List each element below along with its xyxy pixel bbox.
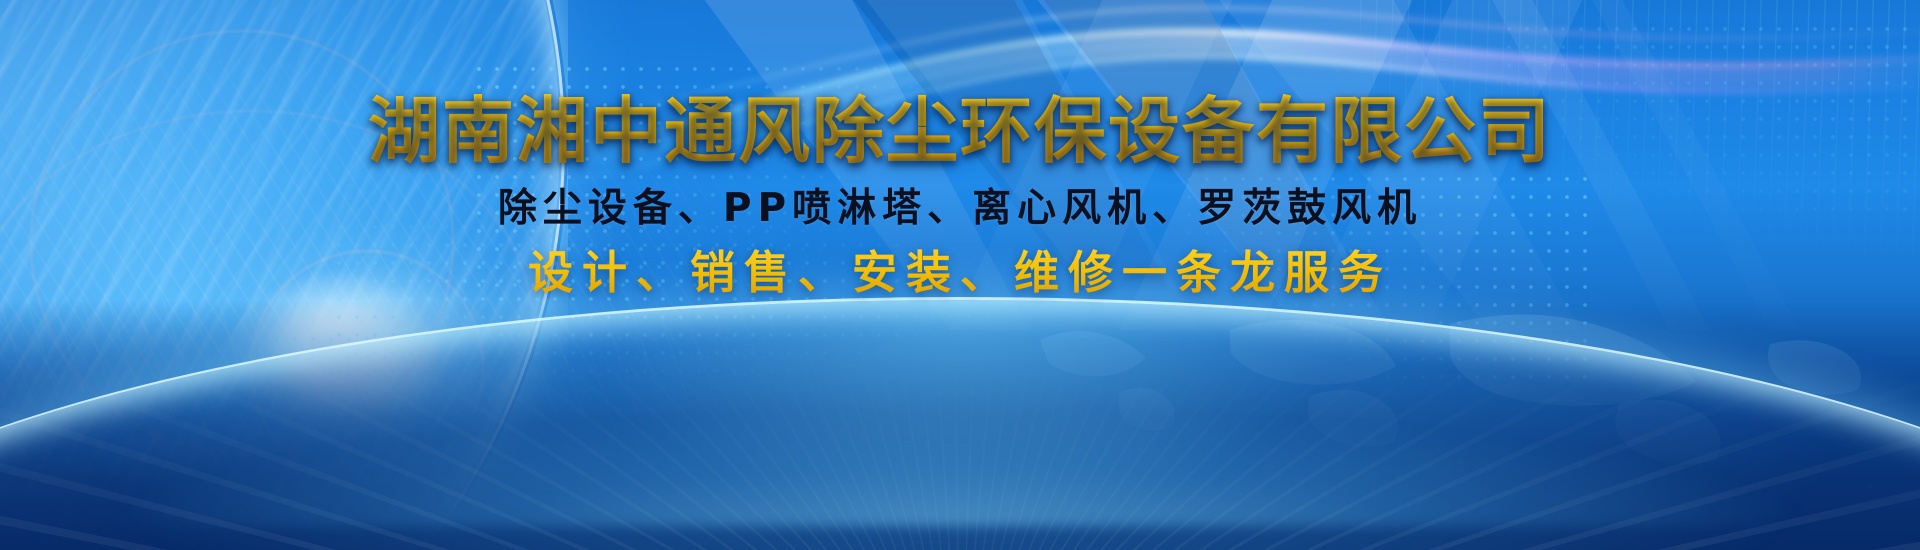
- company-promotional-banner: 湖南湘中通风除尘环保设备有限公司 除尘设备、PP喷淋塔、离心风机、罗茨鼓风机 设…: [0, 0, 1920, 550]
- banner-text-block: 湖南湘中通风除尘环保设备有限公司 除尘设备、PP喷淋塔、离心风机、罗茨鼓风机 设…: [0, 90, 1920, 300]
- company-name-heading: 湖南湘中通风除尘环保设备有限公司: [0, 90, 1920, 172]
- service-slogan-subtitle: 设计、销售、安装、维修一条龙服务: [0, 246, 1920, 300]
- product-list-subtitle: 除尘设备、PP喷淋塔、离心风机、罗茨鼓风机: [0, 186, 1920, 232]
